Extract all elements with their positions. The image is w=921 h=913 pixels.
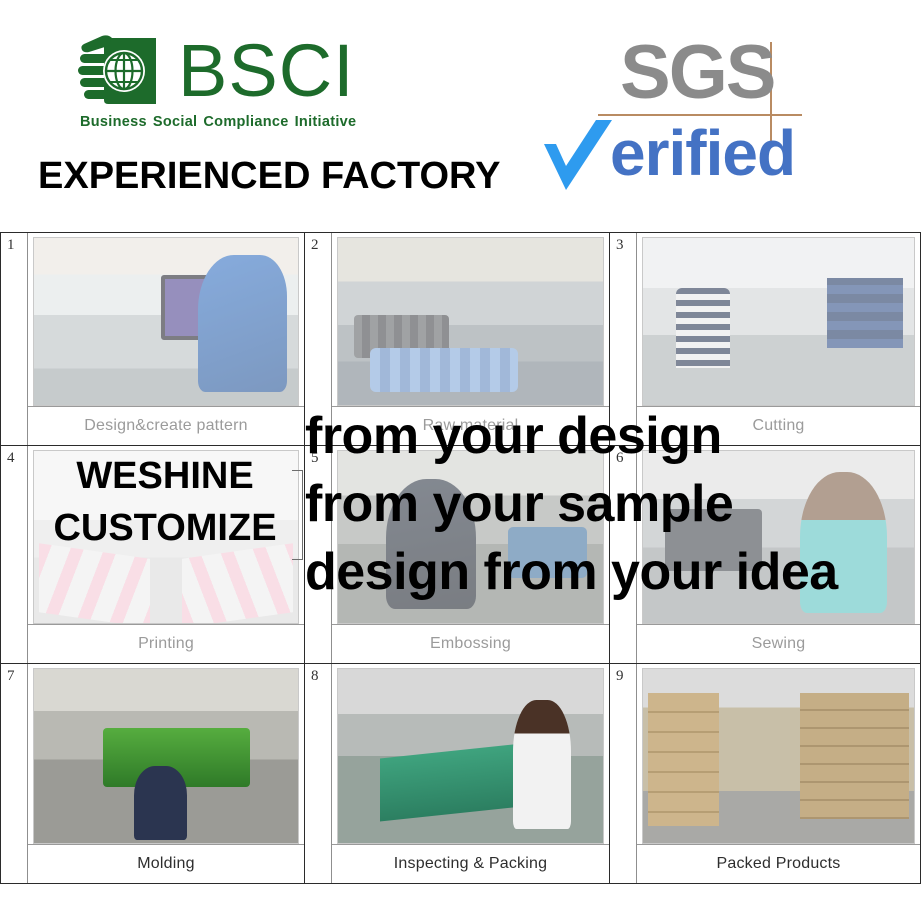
checkmark-icon — [540, 118, 616, 194]
process-cell-8[interactable]: 8 Inspecting & Packing — [305, 664, 610, 884]
cell-body-8: Inspecting & Packing — [332, 664, 609, 883]
bsci-tagline-word-business: Business — [80, 114, 147, 130]
packed-boxes-photo — [642, 668, 915, 844]
cell-number-3: 3 — [610, 233, 637, 445]
header-banner: BSCI BusinessSocialComplianceInitiative … — [0, 0, 921, 228]
cell-body-3: Cutting — [637, 233, 920, 445]
cell-caption-1: Design&create pattern — [28, 406, 304, 445]
embossing-worker-photo — [337, 450, 604, 624]
process-grid: 1 Design&create pattern 2 Raw material 3… — [0, 232, 921, 884]
bsci-tagline-word-compliance: Compliance — [203, 114, 288, 130]
bsci-acronym: BSCI — [178, 32, 355, 110]
cell-number-8: 8 — [305, 664, 332, 883]
cell-number-9: 9 — [610, 664, 637, 883]
inspecting-packing-photo — [337, 668, 604, 844]
cell-body-6: Sewing — [637, 446, 920, 663]
cell-caption-5: Embossing — [332, 624, 609, 663]
process-cell-9[interactable]: 9 Packed Products — [610, 664, 921, 884]
process-cell-6[interactable]: 6 Sewing — [610, 446, 921, 664]
cell-body-7: Molding — [28, 664, 304, 883]
cell-caption-3: Cutting — [637, 406, 920, 445]
cell-caption-8: Inspecting & Packing — [332, 844, 609, 883]
cell-number-1: 1 — [1, 233, 28, 445]
sgs-verified-row: erified — [540, 118, 795, 194]
cell-body-4: Printing — [28, 446, 304, 663]
sgs-acronym: SGS — [620, 32, 775, 114]
cell-body-9: Packed Products — [637, 664, 920, 883]
sgs-top-group: SGS — [540, 38, 870, 120]
molding-line-photo — [33, 668, 299, 844]
process-grid-wrapper: 1 Design&create pattern 2 Raw material 3… — [0, 232, 921, 884]
bsci-tagline: BusinessSocialComplianceInitiative — [78, 114, 378, 130]
cell-number-5: 5 — [305, 446, 332, 663]
cell-number-6: 6 — [610, 446, 637, 663]
cutting-machine-photo — [642, 237, 915, 406]
cell-body-1: Design&create pattern — [28, 233, 304, 445]
sgs-verified-logo: SGS erified — [540, 38, 870, 198]
process-cell-4[interactable]: 4 Printing — [0, 446, 305, 664]
process-cell-1[interactable]: 1 Design&create pattern — [0, 232, 305, 446]
cell-body-2: Raw material — [332, 233, 609, 445]
cell-number-2: 2 — [305, 233, 332, 445]
process-cell-2[interactable]: 2 Raw material — [305, 232, 610, 446]
sgs-verified-text: erified — [610, 118, 795, 188]
cell-caption-4: Printing — [28, 624, 304, 663]
experienced-factory-title: EXPERIENCED FACTORY — [38, 155, 500, 198]
printing-line-photo — [33, 450, 299, 624]
process-cell-5[interactable]: 5 Embossing — [305, 446, 610, 664]
fabric-rolls-photo — [337, 237, 604, 406]
cell-number-4: 4 — [1, 446, 28, 663]
cell-caption-6: Sewing — [637, 624, 920, 663]
bsci-logo: BSCI BusinessSocialComplianceInitiative — [78, 30, 378, 145]
bsci-tagline-word-social: Social — [153, 114, 198, 130]
design-desk-photo — [33, 237, 299, 406]
process-cell-3[interactable]: 3 Cutting — [610, 232, 921, 446]
cell-body-5: Embossing — [332, 446, 609, 663]
bsci-tagline-word-initiative: Initiative — [295, 114, 357, 130]
process-cell-7[interactable]: 7 Molding — [0, 664, 305, 884]
cell-caption-7: Molding — [28, 844, 304, 883]
sewing-worker-photo — [642, 450, 915, 624]
cell-caption-9: Packed Products — [637, 844, 920, 883]
bsci-logo-row: BSCI — [78, 30, 378, 112]
cell-number-7: 7 — [1, 664, 28, 883]
bsci-hand-globe-icon — [78, 32, 174, 110]
cell-caption-2: Raw material — [332, 406, 609, 445]
